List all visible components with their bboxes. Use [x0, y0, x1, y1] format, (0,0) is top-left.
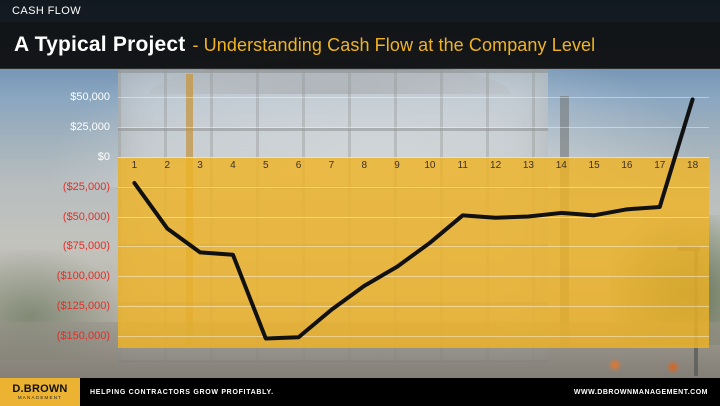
orange-marker-b — [666, 360, 680, 374]
y-axis-tick-label: $25,000 — [70, 121, 110, 133]
series-polyline — [134, 99, 692, 338]
footer-tagline: HELPING CONTRACTORS GROW PROFITABLY. — [90, 389, 274, 396]
eyebrow-label: CASH FLOW — [12, 5, 81, 17]
y-axis-tick-label: ($100,000) — [57, 270, 110, 282]
brand-logo-name: D.BROWN — [12, 384, 67, 395]
y-axis-tick-label: ($125,000) — [57, 300, 110, 312]
cash-flow-chart: $50,000$25,000$0($25,000)($50,000)($75,0… — [0, 69, 720, 361]
slide: CASH FLOW A Typical Project - Understand… — [0, 0, 720, 406]
page-subtitle: - Understanding Cash Flow at the Company… — [192, 35, 595, 56]
eyebrow-bar: CASH FLOW — [0, 0, 720, 22]
y-axis-tick-label: ($25,000) — [63, 181, 110, 193]
y-axis-tick-label: ($50,000) — [63, 211, 110, 223]
plot-area: $50,000$25,000$0($25,000)($50,000)($75,0… — [118, 91, 709, 348]
y-axis-tick-label: $0 — [98, 151, 110, 163]
y-axis-tick-label: ($150,000) — [57, 330, 110, 342]
footer-url: WWW.DBROWNMANAGEMENT.COM — [574, 389, 708, 396]
title-bar: A Typical Project - Understanding Cash F… — [0, 22, 720, 69]
cash-flow-line — [118, 91, 709, 348]
y-axis-tick-label: $50,000 — [70, 91, 110, 103]
page-title: A Typical Project — [14, 33, 185, 57]
brand-logo: D.BROWN MANAGEMENT — [0, 378, 80, 406]
y-axis-tick-label: ($75,000) — [63, 240, 110, 252]
footer-bar: D.BROWN MANAGEMENT HELPING CONTRACTORS G… — [0, 378, 720, 406]
brand-logo-sub: MANAGEMENT — [18, 395, 62, 401]
